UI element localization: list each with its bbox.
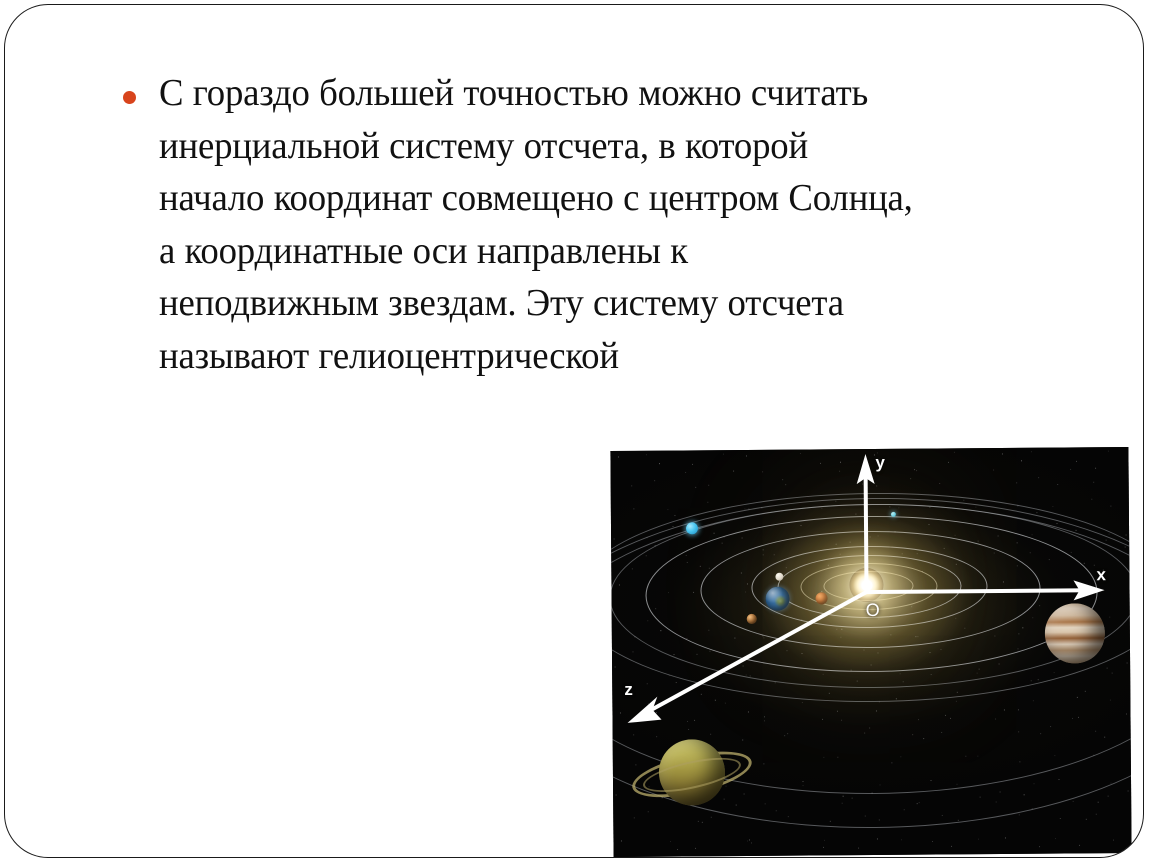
y-axis-label: y <box>875 454 885 471</box>
presentation-slide: С гораздо большей точностью можно считат… <box>4 4 1144 858</box>
z-axis-arrowhead <box>627 697 661 723</box>
y-axis-line <box>866 472 867 592</box>
z-axis-label: z <box>624 681 633 698</box>
x-axis-line <box>867 590 1088 592</box>
solar-system-figure: y x z O <box>610 447 1131 857</box>
x-axis-label: x <box>1096 566 1106 583</box>
bullet-text: С гораздо большей точностью можно считат… <box>159 67 1036 382</box>
coordinate-axes <box>610 447 1131 857</box>
bullet-marker-icon <box>123 91 136 104</box>
content-placeholder: С гораздо большей точностью можно считат… <box>117 67 1077 382</box>
bullet-list-item: С гораздо большей точностью можно считат… <box>117 67 1077 382</box>
origin-label: O <box>866 601 880 619</box>
solar-system-image: y x z O <box>610 447 1131 857</box>
z-axis-line <box>651 592 868 710</box>
